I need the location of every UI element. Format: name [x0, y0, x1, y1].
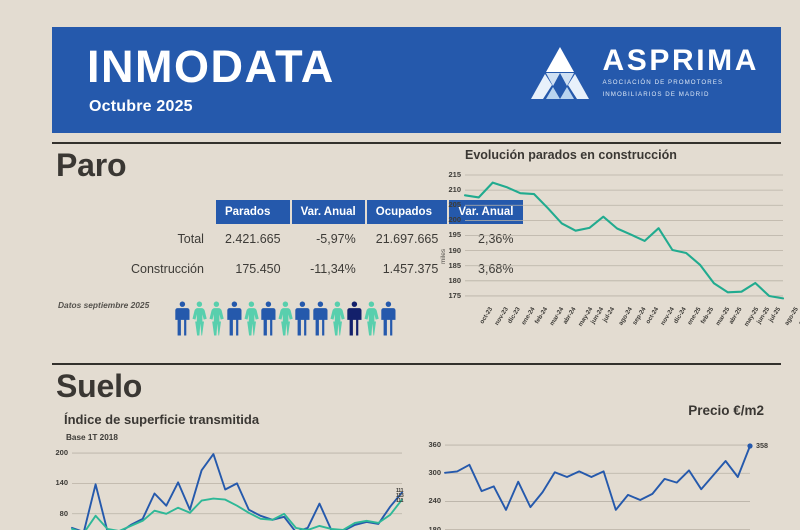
chart-base-note: Base 1T 2018	[66, 433, 118, 442]
row-label-total: Total	[122, 224, 214, 254]
series-line-serie-verde	[72, 499, 402, 530]
report-date: Octubre 2025	[89, 98, 193, 116]
y-axis-tick: 205	[437, 200, 461, 209]
x-axis-tick: ene-24	[521, 306, 537, 326]
y-axis-tick: 300	[417, 468, 441, 477]
chart-svg	[465, 172, 783, 302]
x-axis-tick: nov-23	[493, 306, 510, 327]
x-axis-tick: nov-24	[659, 306, 676, 327]
cell-total-var-parados: -5,97%	[292, 224, 365, 254]
y-axis-tick: 210	[437, 185, 461, 194]
person-male-icon	[295, 301, 310, 337]
people-pictogram	[175, 301, 396, 337]
chart-indice-superficie: 80140200	[46, 444, 406, 530]
asprima-triangle-icon	[529, 45, 591, 101]
chart-title-parados: Evolución parados en construcción	[465, 148, 677, 162]
x-axis-tick: ene-25	[687, 306, 703, 326]
cell-total-ocupados: 21.697.665	[367, 224, 448, 254]
cell-total-parados: 2.421.665	[216, 224, 290, 254]
x-axis-tick: ago-25	[784, 306, 800, 327]
person-female-icon	[244, 301, 259, 337]
y-axis-tick: 200	[44, 448, 68, 457]
x-axis-tick: mar-25	[715, 306, 732, 327]
y-axis-tick: 180	[417, 525, 441, 530]
x-axis-tick: oct-23	[479, 306, 495, 325]
asprima-logo: ASPRIMA ASOCIACIÓN DE PROMOTORES INMOBIL…	[529, 45, 759, 101]
asprima-tagline-2: INMOBILIARIOS DE MADRID	[602, 91, 759, 100]
person-male-icon	[313, 301, 328, 337]
table-header-var-parados: Var. Anual	[292, 200, 365, 224]
x-axis-tick: mar-24	[549, 306, 566, 327]
row-label-construccion: Construcción	[122, 254, 214, 284]
y-axis-tick: 215	[437, 170, 461, 179]
x-axis-tick: ago-24	[618, 306, 635, 327]
asprima-name: ASPRIMA	[602, 46, 759, 76]
y-axis-tick: 185	[437, 261, 461, 270]
y-axis-tick: 180	[437, 276, 461, 285]
section-title-suelo: Suelo	[56, 368, 142, 405]
cell-construccion-parados: 175.450	[216, 254, 290, 284]
inmodata-report: INMODATA Octubre 2025 ASPRIMA ASOCIACIÓN…	[0, 0, 800, 530]
person-male-icon	[381, 301, 396, 337]
chart-precio-m2: 180240300360358	[415, 432, 790, 530]
indice-end-value: 111	[396, 499, 403, 504]
table-header-ocupados: Ocupados	[367, 200, 448, 224]
y-axis-tick: 240	[417, 496, 441, 505]
chart-title-indice: Índice de superficie transmitida	[64, 412, 259, 427]
person-female-icon	[192, 301, 207, 337]
person-male-icon	[261, 301, 276, 337]
y-axis-tick: 200	[437, 215, 461, 224]
chart-plot-area: 175180185190195200205210215oct-23nov-23d…	[465, 172, 783, 302]
chart-svg	[72, 448, 402, 530]
asprima-tagline-1: ASOCIACIÓN DE PROMOTORES	[602, 79, 759, 88]
y-axis-tick: 175	[437, 291, 461, 300]
person-male-icon	[175, 301, 190, 337]
header-band: INMODATA Octubre 2025 ASPRIMA ASOCIACIÓN…	[52, 27, 781, 133]
person-female-icon	[278, 301, 293, 337]
data-source-note: Datos septiembre 2025	[58, 300, 149, 310]
divider-middle	[52, 363, 781, 365]
chart-parados-construccion: Evolución parados en construcción miles …	[437, 148, 787, 353]
person-female-icon	[330, 301, 345, 337]
section-title-paro: Paro	[56, 147, 126, 184]
chart-plot-area: 180240300360358	[445, 438, 750, 530]
end-value-label: 358	[756, 441, 768, 450]
cell-construccion-ocupados: 1.457.375	[367, 254, 448, 284]
person-male-icon	[227, 301, 242, 337]
table-header-corner	[122, 200, 214, 224]
y-axis-tick: 360	[417, 440, 441, 449]
chart-title-precio: Precio €/m2	[688, 403, 764, 418]
y-axis-tick: 195	[437, 230, 461, 239]
y-axis-tick: 80	[44, 509, 68, 518]
cell-construccion-var-parados: -11,34%	[292, 254, 365, 284]
person-female-icon	[209, 301, 224, 337]
person-male-icon	[347, 301, 362, 337]
person-female-icon	[364, 301, 379, 337]
y-axis-tick: 190	[437, 246, 461, 255]
y-axis-tick: 140	[44, 478, 68, 487]
chart-svg	[445, 438, 750, 530]
asprima-wordmark: ASPRIMA ASOCIACIÓN DE PROMOTORES INMOBIL…	[602, 46, 759, 100]
divider-top	[52, 142, 781, 144]
series-end-marker	[747, 443, 752, 448]
series-line-main	[445, 446, 750, 510]
page-title: INMODATA	[87, 44, 335, 89]
table-header-parados: Parados	[216, 200, 290, 224]
chart-plot-area: 80140200	[72, 448, 402, 530]
series-line-serie-azul	[72, 454, 402, 530]
indice-end-values: 111113111	[396, 489, 403, 504]
